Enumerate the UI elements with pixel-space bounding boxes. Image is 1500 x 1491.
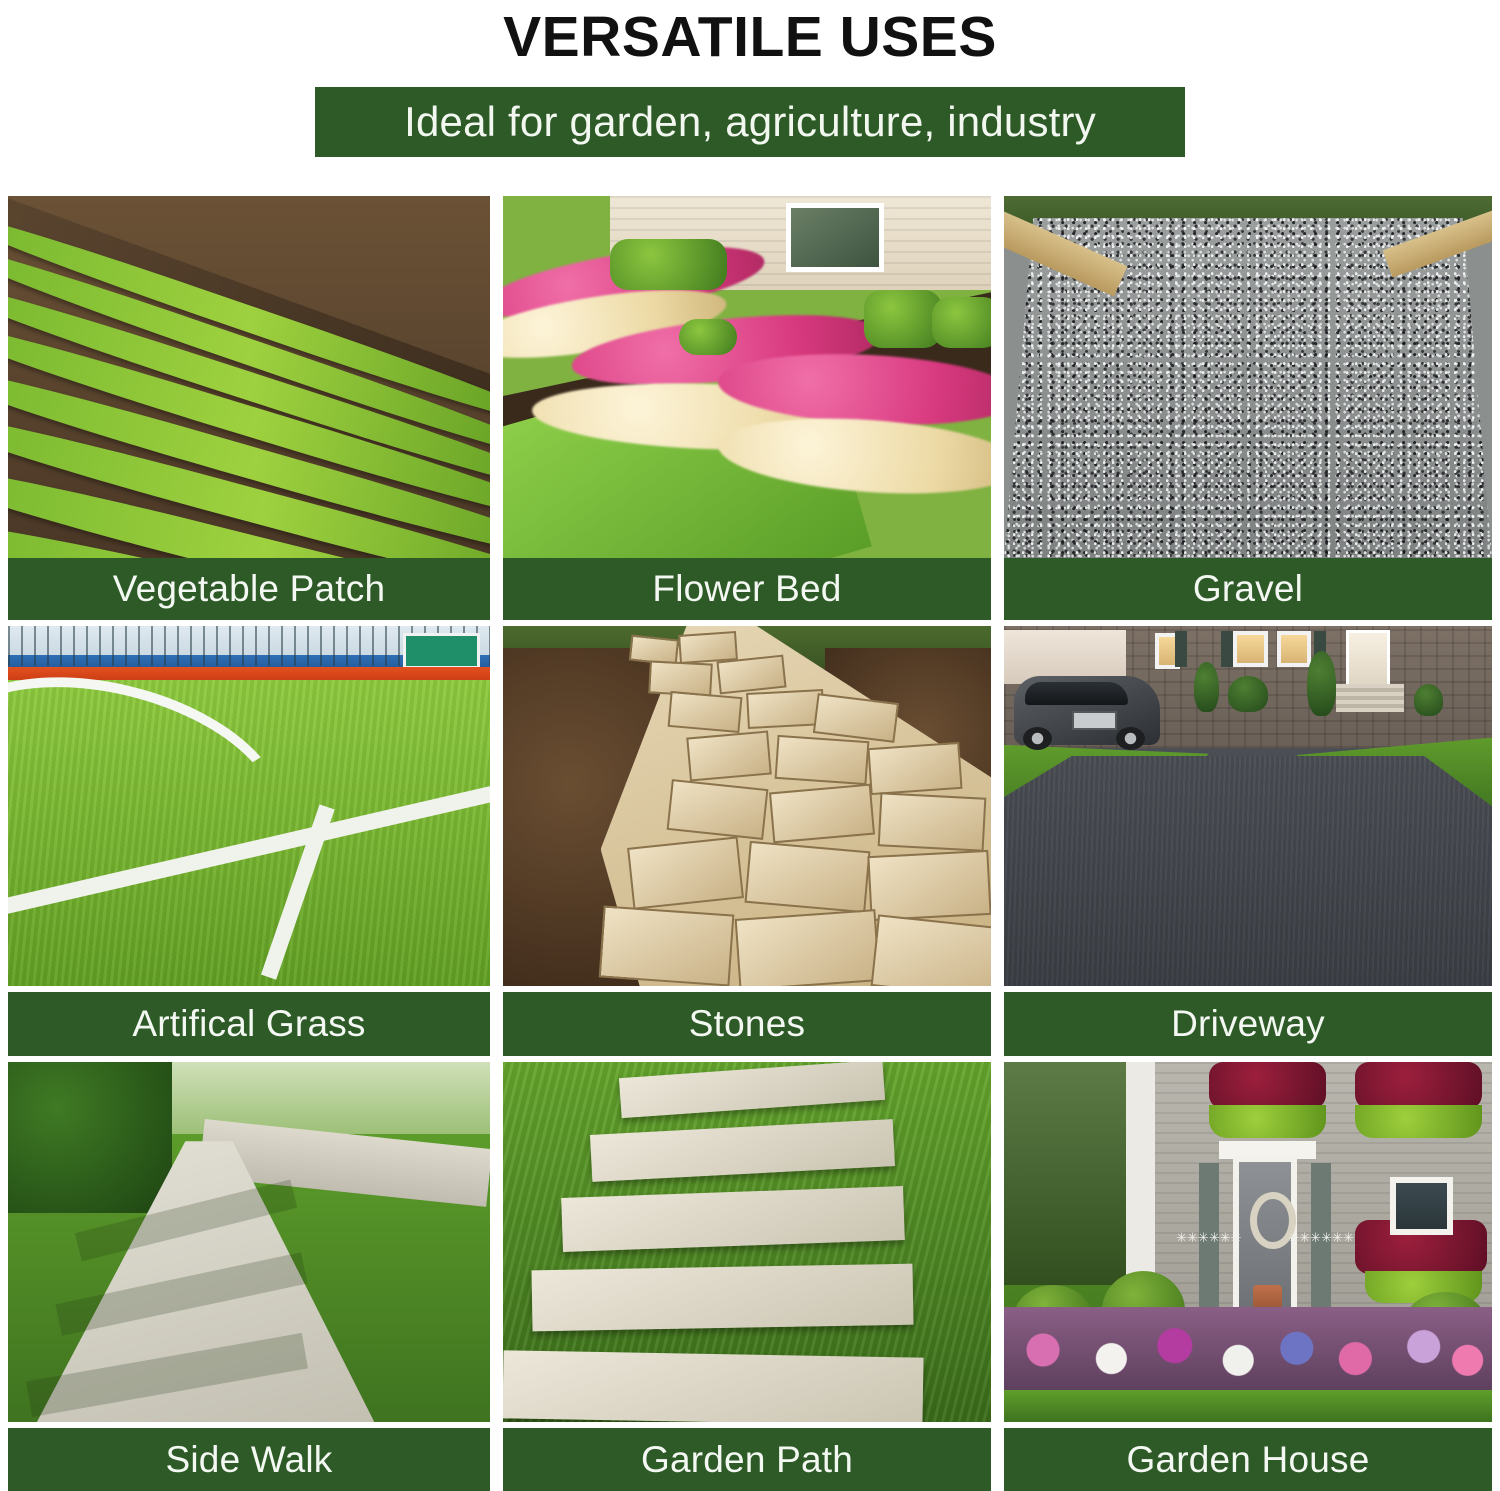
photo-stones [503,626,991,986]
caption-bar: Driveway [1004,992,1492,1056]
page-title: VERSATILE USES [0,2,1500,72]
caption-label: Artifical Grass [132,1003,365,1045]
use-case-card-driveway: Driveway [1004,626,1492,1056]
scene-asphalt-driveway [1004,626,1492,986]
use-case-card-side-walk: Side Walk [8,1062,490,1491]
caption-bar: Side Walk [8,1428,490,1491]
caption-label: Vegetable Patch [113,568,386,610]
use-case-card-garden-path: Garden Path [503,1062,991,1491]
caption-bar: Garden House [1004,1428,1492,1491]
use-case-card-flower-bed: Flower Bed [503,196,991,620]
caption-label: Gravel [1193,568,1303,610]
use-case-grid: Vegetable Patch [8,196,1492,1479]
scene-vegetable-rows [8,196,490,558]
scene-stepping-slabs [503,1062,991,1422]
subtitle-banner: Ideal for garden, agriculture, industry [315,87,1185,157]
photo-gravel [1004,196,1492,558]
caption-bar: Gravel [1004,558,1492,620]
photo-side-walk [8,1062,490,1422]
scene-flower-bed [503,196,991,558]
use-case-card-garden-house: ✳✳✳✳✳✳ ✳✳✳✳✳✳ Garden House [1004,1062,1492,1491]
use-case-card-vegetable-patch: Vegetable Patch [8,196,490,620]
photo-flower-bed [503,196,991,558]
caption-label: Driveway [1171,1003,1325,1045]
photo-garden-path [503,1062,991,1422]
photo-artificial-grass [8,626,490,986]
scene-turf-pitch [8,626,490,986]
scene-concrete-sidewalk [8,1062,490,1422]
use-case-card-artificial-grass: Artifical Grass [8,626,490,1056]
caption-bar: Stones [503,992,991,1056]
use-case-card-stones: Stones [503,626,991,1056]
use-case-card-gravel: Gravel [1004,196,1492,620]
caption-bar: Garden Path [503,1428,991,1491]
caption-label: Garden House [1126,1439,1369,1481]
caption-bar: Flower Bed [503,558,991,620]
photo-vegetable-patch [8,196,490,558]
caption-label: Side Walk [166,1439,333,1481]
photo-driveway [1004,626,1492,986]
infographic-page: VERSATILE USES Ideal for garden, agricul… [0,0,1500,1487]
caption-bar: Artifical Grass [8,992,490,1056]
caption-label: Stones [689,1003,805,1045]
subtitle-text: Ideal for garden, agriculture, industry [404,98,1096,146]
caption-bar: Vegetable Patch [8,558,490,620]
caption-label: Flower Bed [652,568,841,610]
scene-flagstone-path [503,626,991,986]
caption-label: Garden Path [641,1439,853,1481]
photo-garden-house: ✳✳✳✳✳✳ ✳✳✳✳✳✳ [1004,1062,1492,1422]
scene-house-front-garden: ✳✳✳✳✳✳ ✳✳✳✳✳✳ [1004,1062,1492,1422]
scene-gravel-driveway [1004,196,1492,558]
